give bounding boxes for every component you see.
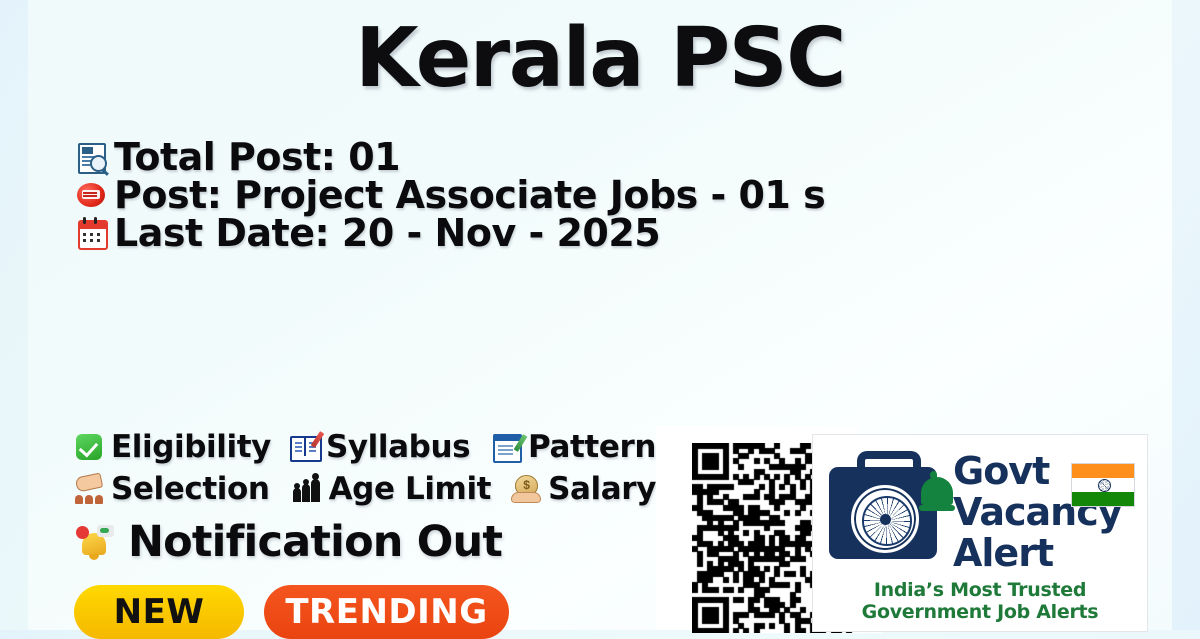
status-badge-new[interactable]: NEW: [74, 585, 244, 639]
info-row-total-post: Total Post: 01: [74, 138, 825, 176]
brand-logo-main: Govt Vacancy Alert: [821, 449, 1139, 577]
info-total-post-text: Total Post: 01: [114, 138, 400, 176]
feature-syllabus[interactable]: Syllabus: [289, 432, 473, 463]
feature-syllabus-label: Syllabus: [326, 432, 470, 463]
status-badge-trending[interactable]: TRENDING: [264, 585, 509, 639]
feature-salary-label: Salary: [548, 474, 656, 505]
notification-text: Notification Out: [128, 521, 502, 564]
feature-eligibility[interactable]: Eligibility: [74, 432, 271, 463]
info-row-last-date: Last Date: 20 - Nov - 2025: [74, 214, 825, 252]
job-info-list: Total Post: 01 Post: Project Associate J…: [74, 138, 825, 252]
bell-notification-icon: [74, 523, 114, 563]
info-last-date-text: Last Date: 20 - Nov - 2025: [114, 214, 660, 252]
brand-tagline: India’s Most Trusted Government Job Aler…: [813, 579, 1147, 623]
announcement-megaphone-icon: [74, 178, 108, 212]
status-badges: NEW TRENDING: [74, 585, 509, 639]
calendar-icon: [74, 216, 108, 250]
money-bag-icon: [511, 474, 541, 504]
feature-list: Eligibility Syllabus Pattern: [74, 426, 674, 510]
feature-pattern[interactable]: Pattern: [491, 432, 656, 463]
feature-salary[interactable]: Salary: [511, 474, 656, 505]
info-row-post: Post: Project Associate Jobs - 01 s: [74, 176, 825, 214]
info-post-text: Post: Project Associate Jobs - 01 s: [114, 176, 825, 214]
feature-row-bottom: Selection Age Limit Salary: [74, 468, 674, 510]
poster-card: Kerala PSC Total Post: 01 Post: Project …: [28, 0, 1172, 630]
green-check-icon: [74, 432, 104, 462]
feature-age-limit-label: Age Limit: [329, 474, 492, 505]
people-group-icon: [292, 474, 322, 504]
syllabus-book-icon: [289, 432, 319, 462]
job-document-search-icon: [74, 140, 108, 174]
exam-paper-icon: [491, 432, 521, 462]
briefcase-handle-icon: [857, 451, 921, 485]
feature-age-limit[interactable]: Age Limit: [292, 474, 494, 505]
feature-row-top: Eligibility Syllabus Pattern: [74, 426, 674, 468]
page-title: Kerala PSC: [28, 18, 1172, 100]
feature-pattern-label: Pattern: [528, 432, 656, 463]
poster-canvas: Kerala PSC Total Post: 01 Post: Project …: [0, 0, 1200, 630]
feature-selection[interactable]: Selection: [74, 474, 274, 505]
feature-eligibility-label: Eligibility: [111, 432, 271, 463]
notification-banner: Notification Out: [74, 521, 502, 564]
india-flag-icon: [1071, 463, 1135, 507]
selection-hand-icon: [74, 474, 104, 504]
brand-logo-panel: Govt Vacancy Alert India’s Most Trusted …: [812, 434, 1148, 632]
feature-selection-label: Selection: [111, 474, 270, 505]
ashoka-chakra-icon: [851, 485, 919, 553]
brand-line-3: Alert: [953, 533, 1122, 574]
green-bell-icon: [917, 471, 957, 511]
bottom-band: Eligibility Syllabus Pattern: [56, 418, 1144, 630]
